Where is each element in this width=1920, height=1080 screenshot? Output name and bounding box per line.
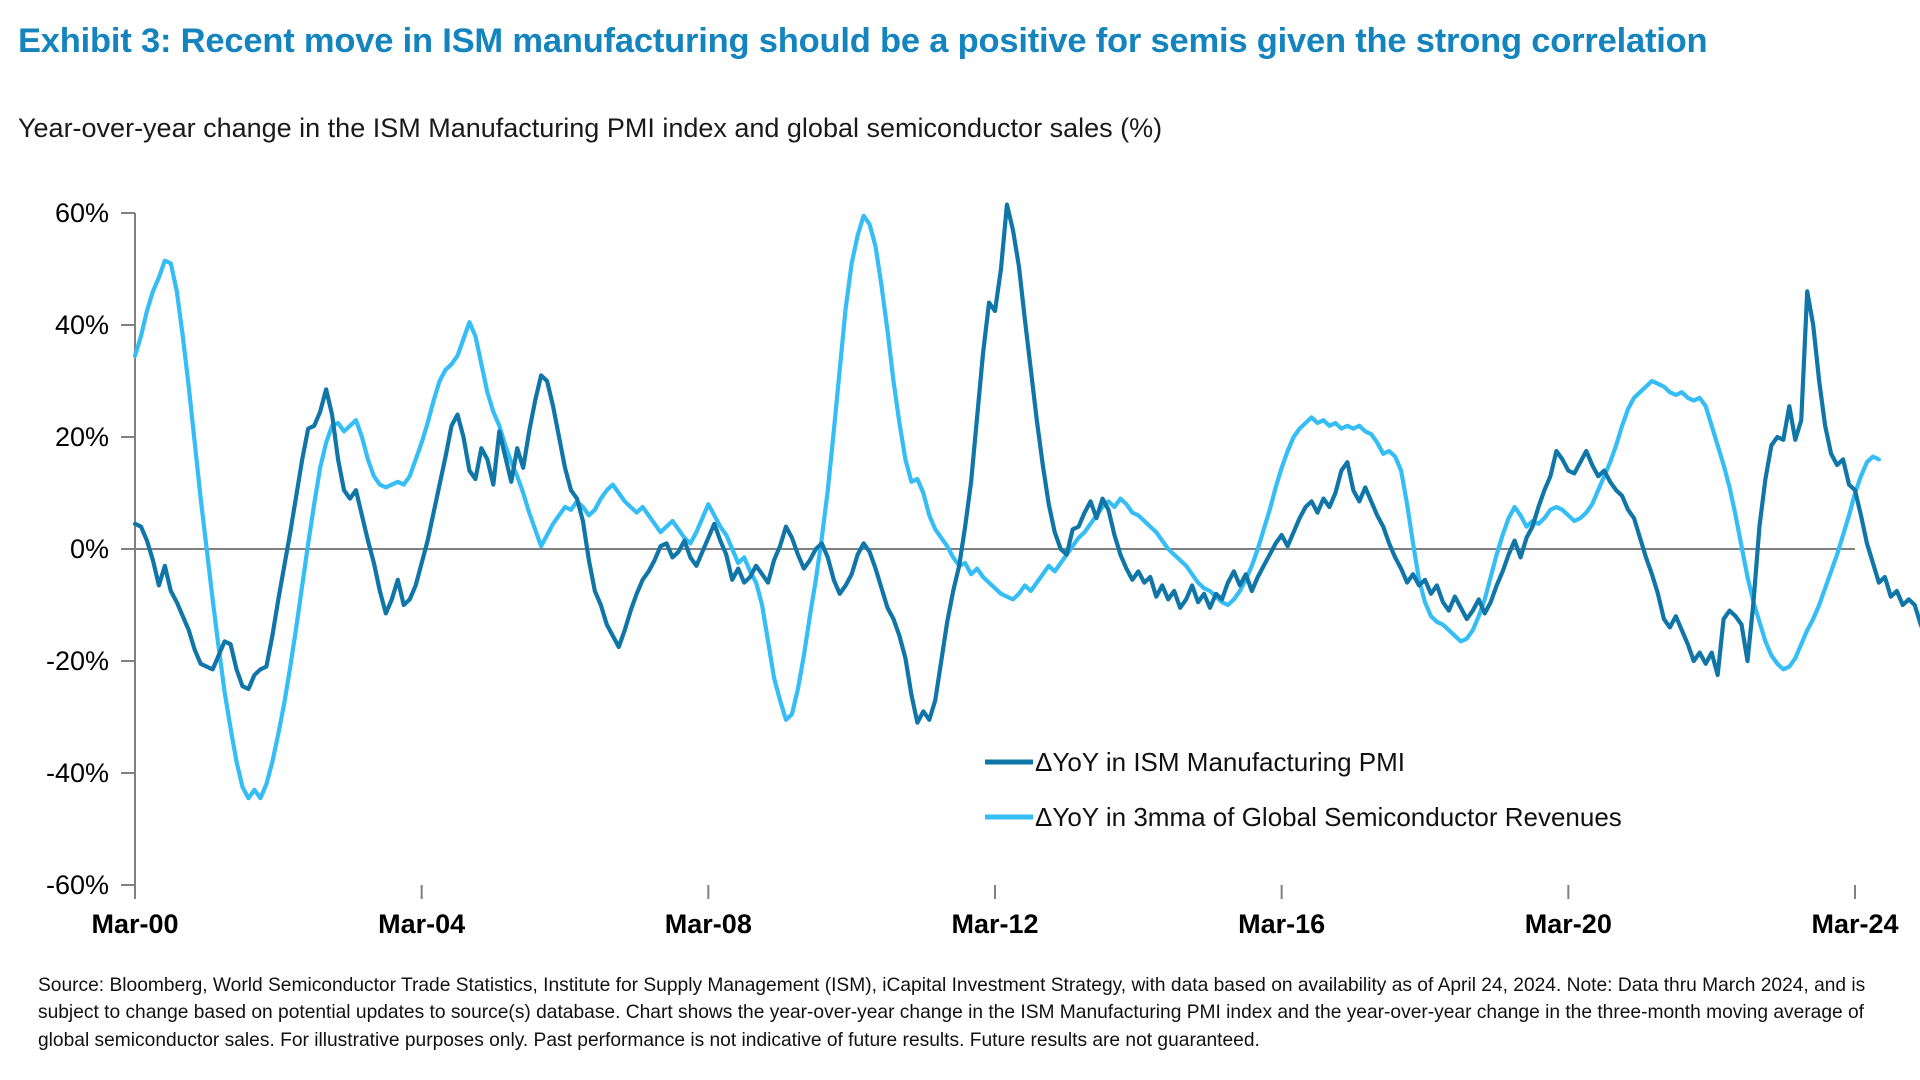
exhibit-page: Exhibit 3: Recent move in ISM manufactur… bbox=[0, 0, 1920, 1080]
y-axis-tick-label: 20% bbox=[55, 422, 109, 452]
x-axis-tick-label: Mar-12 bbox=[951, 909, 1038, 939]
x-axis: Mar-00Mar-04Mar-08Mar-12Mar-16Mar-20Mar-… bbox=[91, 885, 1898, 939]
chart-container: 60%40%20%0%-20%-40%-60% Mar-00Mar-04Mar-… bbox=[0, 150, 1920, 950]
y-axis: 60%40%20%0%-20%-40%-60% bbox=[46, 198, 135, 900]
series-lines bbox=[135, 205, 1920, 799]
x-axis-tick-label: Mar-08 bbox=[665, 909, 752, 939]
x-axis-tick-label: Mar-16 bbox=[1238, 909, 1325, 939]
page-title: Exhibit 3: Recent move in ISM manufactur… bbox=[18, 22, 1908, 62]
series-line-semis bbox=[135, 216, 1879, 798]
legend-label-semis: ΔYoY in 3mma of Global Semiconductor Rev… bbox=[1035, 802, 1622, 832]
x-axis-tick-label: Mar-20 bbox=[1525, 909, 1612, 939]
x-axis-tick-label: Mar-00 bbox=[91, 909, 178, 939]
y-axis-tick-label: -40% bbox=[46, 758, 109, 788]
chart-legend: ΔYoY in ISM Manufacturing PMIΔYoY in 3mm… bbox=[985, 747, 1622, 832]
chart-subtitle: Year-over-year change in the ISM Manufac… bbox=[18, 113, 1908, 144]
y-axis-tick-label: 0% bbox=[70, 534, 109, 564]
line-chart: 60%40%20%0%-20%-40%-60% Mar-00Mar-04Mar-… bbox=[0, 150, 1920, 950]
source-note: Source: Bloomberg, World Semiconductor T… bbox=[38, 972, 1892, 1054]
y-axis-tick-label: -60% bbox=[46, 870, 109, 900]
x-axis-tick-label: Mar-24 bbox=[1811, 909, 1898, 939]
x-axis-tick-label: Mar-04 bbox=[378, 909, 465, 939]
series-line-ism bbox=[135, 205, 1920, 723]
legend-label-ism: ΔYoY in ISM Manufacturing PMI bbox=[1035, 747, 1405, 777]
y-axis-tick-label: 60% bbox=[55, 198, 109, 228]
y-axis-tick-label: -20% bbox=[46, 646, 109, 676]
y-axis-tick-label: 40% bbox=[55, 310, 109, 340]
